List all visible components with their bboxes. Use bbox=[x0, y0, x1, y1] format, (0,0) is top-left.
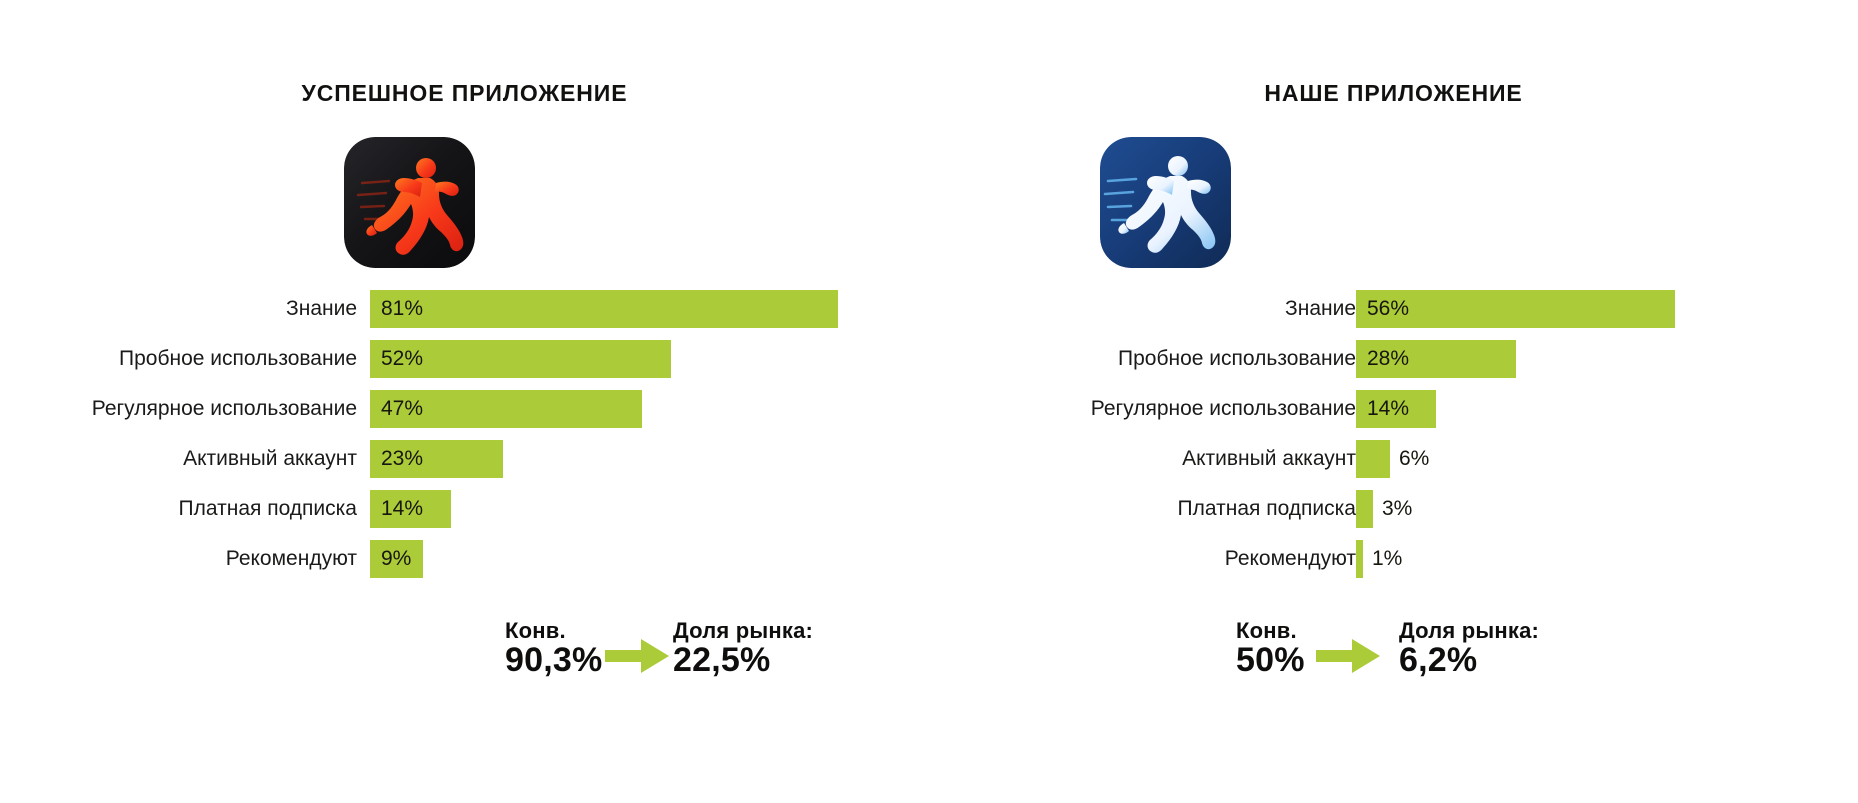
funnel-bar bbox=[1356, 440, 1390, 478]
funnel-bar bbox=[370, 290, 838, 328]
conversion-block: Конв. 50% bbox=[1236, 620, 1305, 678]
conversion-caption: Конв. bbox=[505, 620, 602, 643]
funnel-chart-left: Знание 81% Пробное использование 52% Рег… bbox=[0, 290, 929, 590]
conversion-block: Конв. 90,3% bbox=[505, 620, 602, 678]
panel-our-app: НАШЕ ПРИЛОЖЕНИЕ bbox=[929, 0, 1858, 803]
funnel-bar-wrap: 56% bbox=[1356, 290, 1675, 328]
funnel-bar-wrap: 81% bbox=[370, 290, 838, 328]
funnel-row-label: Регулярное использование bbox=[92, 390, 357, 428]
funnel-bar-value: 81% bbox=[381, 290, 423, 328]
funnel-chart-right: Знание 56% Пробное использование 28% Рег… bbox=[929, 290, 1858, 590]
funnel-row: Платная подписка 3% bbox=[929, 490, 1858, 540]
funnel-bar-value: 56% bbox=[1367, 290, 1409, 328]
funnel-row-label: Регулярное использование bbox=[1091, 390, 1356, 428]
market-share-caption: Доля рынка: bbox=[673, 620, 813, 643]
market-share-value: 22,5% bbox=[673, 643, 813, 678]
funnel-row-label: Рекомендуют bbox=[1225, 540, 1356, 578]
market-share-block: Доля рынка: 22,5% bbox=[673, 620, 813, 678]
funnel-row: Пробное использование 52% bbox=[0, 340, 929, 390]
funnel-bar-wrap: 1% bbox=[1356, 540, 1363, 578]
running-man-app-icon-red bbox=[344, 137, 475, 268]
funnel-bar bbox=[1356, 540, 1363, 578]
panel-title: НАШЕ ПРИЛОЖЕНИЕ bbox=[929, 80, 1858, 107]
conversion-value: 90,3% bbox=[505, 643, 602, 678]
funnel-row-label: Пробное использование bbox=[1118, 340, 1356, 378]
funnel-row: Пробное использование 28% bbox=[929, 340, 1858, 390]
funnel-bar-value: 47% bbox=[381, 390, 423, 428]
funnel-row: Активный аккаунт 23% bbox=[0, 440, 929, 490]
funnel-bar-value: 3% bbox=[1382, 490, 1412, 528]
funnel-row-label: Платная подписка bbox=[1178, 490, 1356, 528]
funnel-row-label: Платная подписка bbox=[179, 490, 357, 528]
funnel-bar-value: 6% bbox=[1399, 440, 1429, 478]
funnel-bar-value: 14% bbox=[381, 490, 423, 528]
arrow-right-icon bbox=[605, 639, 669, 673]
funnel-row: Платная подписка 14% bbox=[0, 490, 929, 540]
conversion-value: 50% bbox=[1236, 643, 1305, 678]
funnel-row: Рекомендуют 1% bbox=[929, 540, 1858, 590]
funnel-bar bbox=[1356, 490, 1373, 528]
funnel-row-label: Знание bbox=[286, 290, 357, 328]
funnel-bar-wrap: 9% bbox=[370, 540, 423, 578]
market-share-value: 6,2% bbox=[1399, 643, 1539, 678]
market-share-caption: Доля рынка: bbox=[1399, 620, 1539, 643]
funnel-row: Рекомендуют 9% bbox=[0, 540, 929, 590]
funnel-bar-wrap: 14% bbox=[1356, 390, 1436, 428]
arrow-right-icon bbox=[1316, 639, 1380, 673]
running-man-app-icon-blue bbox=[1100, 137, 1231, 268]
funnel-row-label: Пробное использование bbox=[119, 340, 357, 378]
funnel-row-label: Активный аккаунт bbox=[1182, 440, 1356, 478]
funnel-bar-wrap: 3% bbox=[1356, 490, 1373, 528]
funnel-bar-wrap: 28% bbox=[1356, 340, 1516, 378]
funnel-bar-wrap: 14% bbox=[370, 490, 451, 528]
funnel-bar-value: 23% bbox=[381, 440, 423, 478]
funnel-row-label: Рекомендуют bbox=[226, 540, 357, 578]
infographic-canvas: УСПЕШНОЕ ПРИЛОЖЕНИЕ bbox=[0, 0, 1858, 803]
funnel-bar-value: 1% bbox=[1372, 540, 1402, 578]
market-share-block: Доля рынка: 6,2% bbox=[1399, 620, 1539, 678]
funnel-bar-wrap: 6% bbox=[1356, 440, 1390, 478]
funnel-bar-value: 28% bbox=[1367, 340, 1409, 378]
funnel-bar-value: 52% bbox=[381, 340, 423, 378]
panel-title: УСПЕШНОЕ ПРИЛОЖЕНИЕ bbox=[0, 80, 929, 107]
funnel-bar-wrap: 47% bbox=[370, 390, 642, 428]
funnel-bar-wrap: 23% bbox=[370, 440, 503, 478]
funnel-row: Регулярное использование 47% bbox=[0, 390, 929, 440]
funnel-bar-value: 14% bbox=[1367, 390, 1409, 428]
funnel-bar-value: 9% bbox=[381, 540, 411, 578]
panel-successful-app: УСПЕШНОЕ ПРИЛОЖЕНИЕ bbox=[0, 0, 929, 803]
funnel-row: Знание 81% bbox=[0, 290, 929, 340]
funnel-row-label: Знание bbox=[1285, 290, 1356, 328]
funnel-row: Регулярное использование 14% bbox=[929, 390, 1858, 440]
funnel-row: Активный аккаунт 6% bbox=[929, 440, 1858, 490]
funnel-row: Знание 56% bbox=[929, 290, 1858, 340]
funnel-row-label: Активный аккаунт bbox=[183, 440, 357, 478]
funnel-bar-wrap: 52% bbox=[370, 340, 671, 378]
conversion-caption: Конв. bbox=[1236, 620, 1305, 643]
